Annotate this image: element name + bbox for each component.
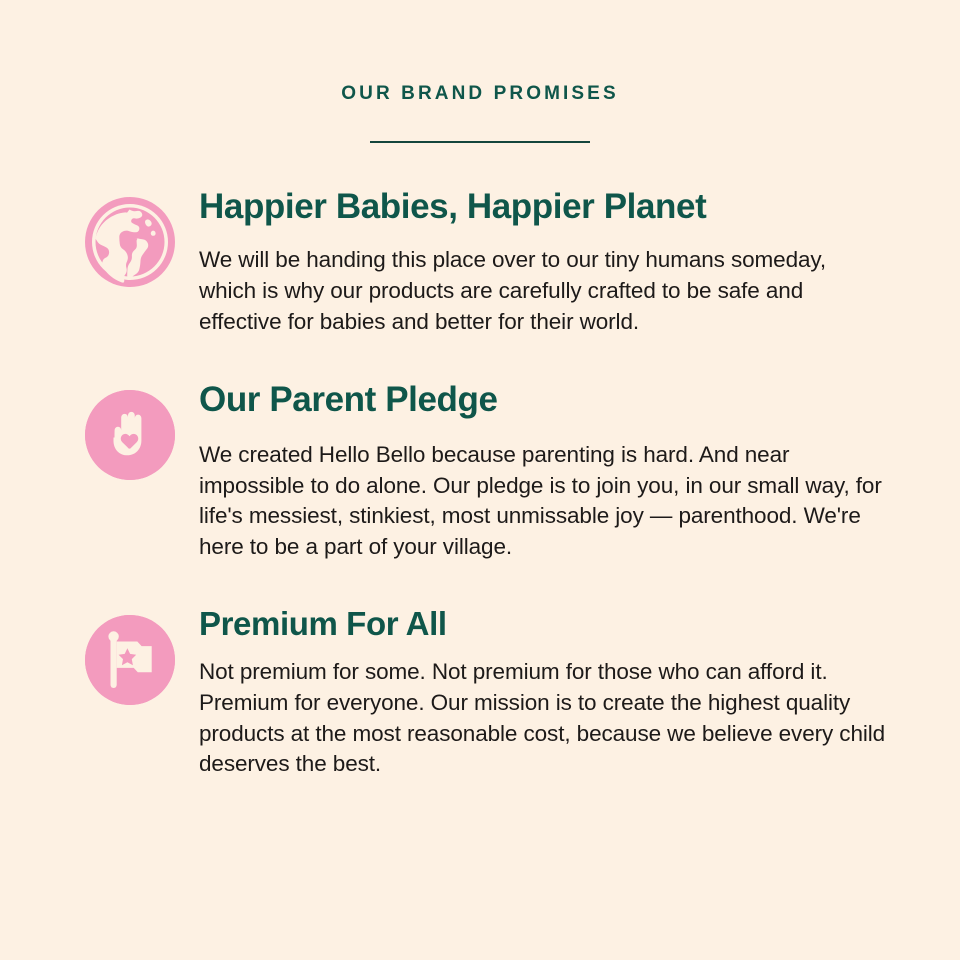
promises-list: Happier Babies, Happier Planet We will b… xyxy=(0,185,960,780)
promise-item: Premium For All Not premium for some. No… xyxy=(0,603,960,780)
promise-item: Our Parent Pledge We created Hello Bello… xyxy=(0,378,960,563)
hand-heart-icon-badge xyxy=(85,390,175,480)
promise-description: Not premium for some. Not premium for th… xyxy=(199,657,889,780)
hand-heart-icon xyxy=(85,390,175,480)
promise-title: Our Parent Pledge xyxy=(199,380,890,420)
flag-star-icon xyxy=(85,615,175,705)
promise-body: Premium For All Not premium for some. No… xyxy=(175,603,890,780)
flag-star-icon-badge xyxy=(85,615,175,705)
header-divider xyxy=(370,141,590,143)
promise-body: Our Parent Pledge We created Hello Bello… xyxy=(175,378,890,563)
promise-description: We created Hello Bello because parenting… xyxy=(199,440,889,563)
promise-item: Happier Babies, Happier Planet We will b… xyxy=(0,185,960,338)
promise-title: Happier Babies, Happier Planet xyxy=(199,187,890,227)
page-header: OUR BRAND PROMISES xyxy=(0,0,960,143)
promise-description: We will be handing this place over to ou… xyxy=(199,245,889,337)
promise-title: Premium For All xyxy=(199,605,890,643)
brand-promises-page: OUR BRAND PROMISES xyxy=(0,0,960,960)
globe-icon-badge xyxy=(85,197,175,287)
globe-icon xyxy=(85,197,175,287)
promise-body: Happier Babies, Happier Planet We will b… xyxy=(175,185,890,338)
page-title: OUR BRAND PROMISES xyxy=(0,84,960,103)
divider-container xyxy=(0,141,960,143)
